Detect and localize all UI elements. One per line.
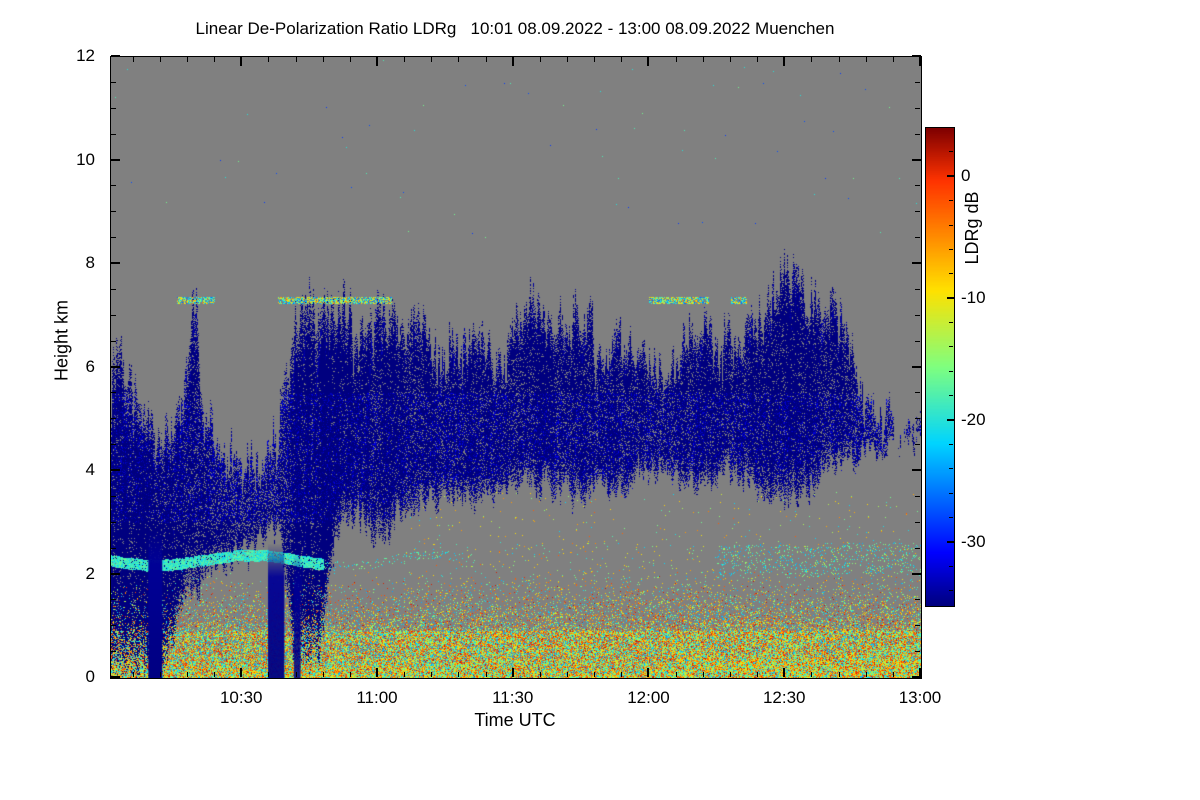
- colorbar-tick-minor: [949, 346, 953, 347]
- colorbar-tick-minor: [949, 249, 953, 250]
- y-tick-minor-right: [915, 237, 920, 238]
- y-tick-minor: [111, 599, 116, 600]
- x-tick-minor-top: [458, 57, 459, 62]
- x-tick-minor: [920, 672, 921, 677]
- y-tick-major: [111, 159, 120, 161]
- x-tick-minor: [486, 672, 487, 677]
- y-tick-major-right: [912, 366, 921, 368]
- colorbar-tick-minor: [949, 273, 953, 274]
- x-tick-minor: [893, 672, 894, 677]
- y-tick-minor-right: [915, 392, 920, 393]
- y-tick-minor: [111, 548, 116, 549]
- y-tick-major: [111, 366, 120, 368]
- x-tick-minor-top: [431, 57, 432, 62]
- x-tick-minor-top: [513, 57, 514, 62]
- colorbar-tick-major: [947, 175, 954, 177]
- y-tick-minor-right: [915, 599, 920, 600]
- x-tick-minor: [214, 672, 215, 677]
- colorbar-tick-minor: [949, 517, 953, 518]
- x-tick-minor-top: [567, 57, 568, 62]
- y-tick-minor: [111, 237, 116, 238]
- x-tick-minor-top: [839, 57, 840, 62]
- x-tick-minor: [431, 672, 432, 677]
- y-tick-label-0: 0: [55, 668, 95, 685]
- x-tick-minor-top: [648, 57, 649, 62]
- y-tick-minor: [111, 108, 116, 109]
- y-tick-major-right: [912, 573, 921, 575]
- x-tick-minor: [730, 672, 731, 677]
- y-tick-minor-right: [915, 418, 920, 419]
- x-tick-label-1100: 11:00: [332, 689, 422, 706]
- y-tick-major: [111, 573, 120, 575]
- y-tick-major: [111, 676, 120, 678]
- colorbar-tick-label-neg20: -20: [961, 411, 1021, 428]
- y-tick-minor-right: [915, 651, 920, 652]
- x-tick-minor: [648, 672, 649, 677]
- y-tick-minor: [111, 392, 116, 393]
- colorbar-tick-major: [947, 541, 954, 543]
- colorbar-tick-minor: [949, 395, 953, 396]
- y-tick-major-right: [912, 262, 921, 264]
- y-tick-minor: [111, 289, 116, 290]
- y-tick-minor-right: [915, 289, 920, 290]
- x-tick-minor-top: [214, 57, 215, 62]
- x-tick-minor-top: [296, 57, 297, 62]
- x-tick-minor-top: [893, 57, 894, 62]
- x-tick-minor: [839, 672, 840, 677]
- x-tick-minor-top: [268, 57, 269, 62]
- x-tick-label-1300: 13:00: [875, 689, 965, 706]
- x-tick-minor: [594, 672, 595, 677]
- x-tick-minor-top: [323, 57, 324, 62]
- y-tick-minor-right: [915, 134, 920, 135]
- y-tick-minor-right: [915, 82, 920, 83]
- x-tick-minor: [676, 672, 677, 677]
- x-tick-minor-top: [377, 57, 378, 62]
- x-tick-minor-top: [594, 57, 595, 62]
- y-tick-minor: [111, 444, 116, 445]
- y-tick-minor-right: [915, 625, 920, 626]
- y-tick-label-10: 10: [55, 151, 95, 168]
- y-tick-major: [111, 469, 120, 471]
- x-tick-minor-top: [920, 57, 921, 62]
- colorbar-tick-minor: [949, 371, 953, 372]
- x-tick-minor-top: [730, 57, 731, 62]
- y-tick-minor: [111, 496, 116, 497]
- colorbar-tick-minor: [949, 493, 953, 494]
- y-tick-minor: [111, 185, 116, 186]
- x-tick-minor-top: [784, 57, 785, 62]
- x-tick-minor-top: [757, 57, 758, 62]
- x-tick-minor: [187, 672, 188, 677]
- x-tick-label-1030: 10:30: [196, 689, 286, 706]
- x-tick-minor: [458, 672, 459, 677]
- colorbar-tick-label-neg30: -30: [961, 533, 1021, 550]
- x-tick-minor: [350, 672, 351, 677]
- y-tick-minor: [111, 522, 116, 523]
- y-tick-minor-right: [915, 315, 920, 316]
- x-tick-minor-top: [404, 57, 405, 62]
- x-tick-minor: [133, 672, 134, 677]
- y-tick-major-right: [912, 159, 921, 161]
- x-tick-minor: [323, 672, 324, 677]
- x-tick-label-1130: 11:30: [468, 689, 558, 706]
- y-tick-label-8: 8: [55, 254, 95, 271]
- y-tick-label-6: 6: [55, 358, 95, 375]
- y-tick-major-right: [912, 469, 921, 471]
- y-tick-label-2: 2: [55, 565, 95, 582]
- x-tick-minor: [703, 672, 704, 677]
- y-axis-title: Height km: [52, 261, 73, 421]
- y-tick-minor-right: [915, 211, 920, 212]
- y-tick-label-4: 4: [55, 461, 95, 478]
- y-tick-minor: [111, 134, 116, 135]
- y-tick-label-12: 12: [55, 47, 95, 64]
- colorbar-tick-minor: [949, 225, 953, 226]
- x-tick-minor: [404, 672, 405, 677]
- y-tick-minor: [111, 82, 116, 83]
- y-tick-minor: [111, 341, 116, 342]
- x-axis-title: Time UTC: [110, 710, 920, 731]
- chart-title: Linear De-Polarization Ratio LDRg 10:01 …: [0, 19, 1030, 39]
- x-tick-minor-top: [621, 57, 622, 62]
- x-tick-minor: [621, 672, 622, 677]
- x-tick-minor-top: [703, 57, 704, 62]
- y-tick-major: [111, 262, 120, 264]
- colorbar-tick-minor: [949, 200, 953, 201]
- colorbar-tick-major: [947, 297, 954, 299]
- x-tick-minor-top: [241, 57, 242, 62]
- colorbar-tick-minor: [949, 151, 953, 152]
- x-tick-minor-top: [187, 57, 188, 62]
- x-tick-minor: [241, 672, 242, 677]
- x-tick-minor-top: [486, 57, 487, 62]
- x-tick-minor: [377, 672, 378, 677]
- colorbar-tick-label-neg10: -10: [961, 289, 1021, 306]
- colorbar-tick-minor: [949, 444, 953, 445]
- x-tick-label-1200: 12:00: [603, 689, 693, 706]
- x-tick-minor: [567, 672, 568, 677]
- x-tick-minor: [513, 672, 514, 677]
- colorbar-tick-major: [947, 419, 954, 421]
- heatmap-canvas: [111, 57, 921, 678]
- x-tick-minor: [784, 672, 785, 677]
- plot-area[interactable]: [110, 56, 922, 679]
- x-tick-minor: [866, 672, 867, 677]
- y-tick-minor-right: [915, 341, 920, 342]
- x-tick-minor: [296, 672, 297, 677]
- x-tick-minor: [811, 672, 812, 677]
- colorbar-tick-minor: [949, 566, 953, 567]
- colorbar[interactable]: [925, 127, 955, 607]
- y-tick-major: [111, 55, 120, 57]
- x-tick-minor-top: [160, 57, 161, 62]
- y-tick-minor-right: [915, 496, 920, 497]
- colorbar-tick-minor: [949, 590, 953, 591]
- colorbar-tick-label-0: 0: [961, 167, 1021, 184]
- x-tick-minor-top: [540, 57, 541, 62]
- x-tick-minor-top: [350, 57, 351, 62]
- y-tick-minor-right: [915, 108, 920, 109]
- x-tick-minor: [160, 672, 161, 677]
- y-tick-minor: [111, 625, 116, 626]
- x-tick-minor-top: [811, 57, 812, 62]
- colorbar-tick-minor: [949, 322, 953, 323]
- x-tick-label-1230: 12:30: [739, 689, 829, 706]
- y-tick-minor: [111, 315, 116, 316]
- y-tick-minor-right: [915, 548, 920, 549]
- y-tick-minor: [111, 211, 116, 212]
- y-tick-minor-right: [915, 522, 920, 523]
- colorbar-tick-minor: [949, 468, 953, 469]
- y-tick-minor: [111, 418, 116, 419]
- y-tick-minor-right: [915, 444, 920, 445]
- x-tick-minor: [540, 672, 541, 677]
- x-tick-minor: [757, 672, 758, 677]
- x-tick-minor-top: [676, 57, 677, 62]
- x-tick-minor-top: [866, 57, 867, 62]
- colorbar-tick-minor: [949, 127, 953, 128]
- y-tick-minor: [111, 651, 116, 652]
- x-tick-minor: [268, 672, 269, 677]
- y-tick-minor-right: [915, 185, 920, 186]
- x-tick-minor-top: [133, 57, 134, 62]
- chart-figure: Linear De-Polarization Ratio LDRg 10:01 …: [0, 0, 1200, 800]
